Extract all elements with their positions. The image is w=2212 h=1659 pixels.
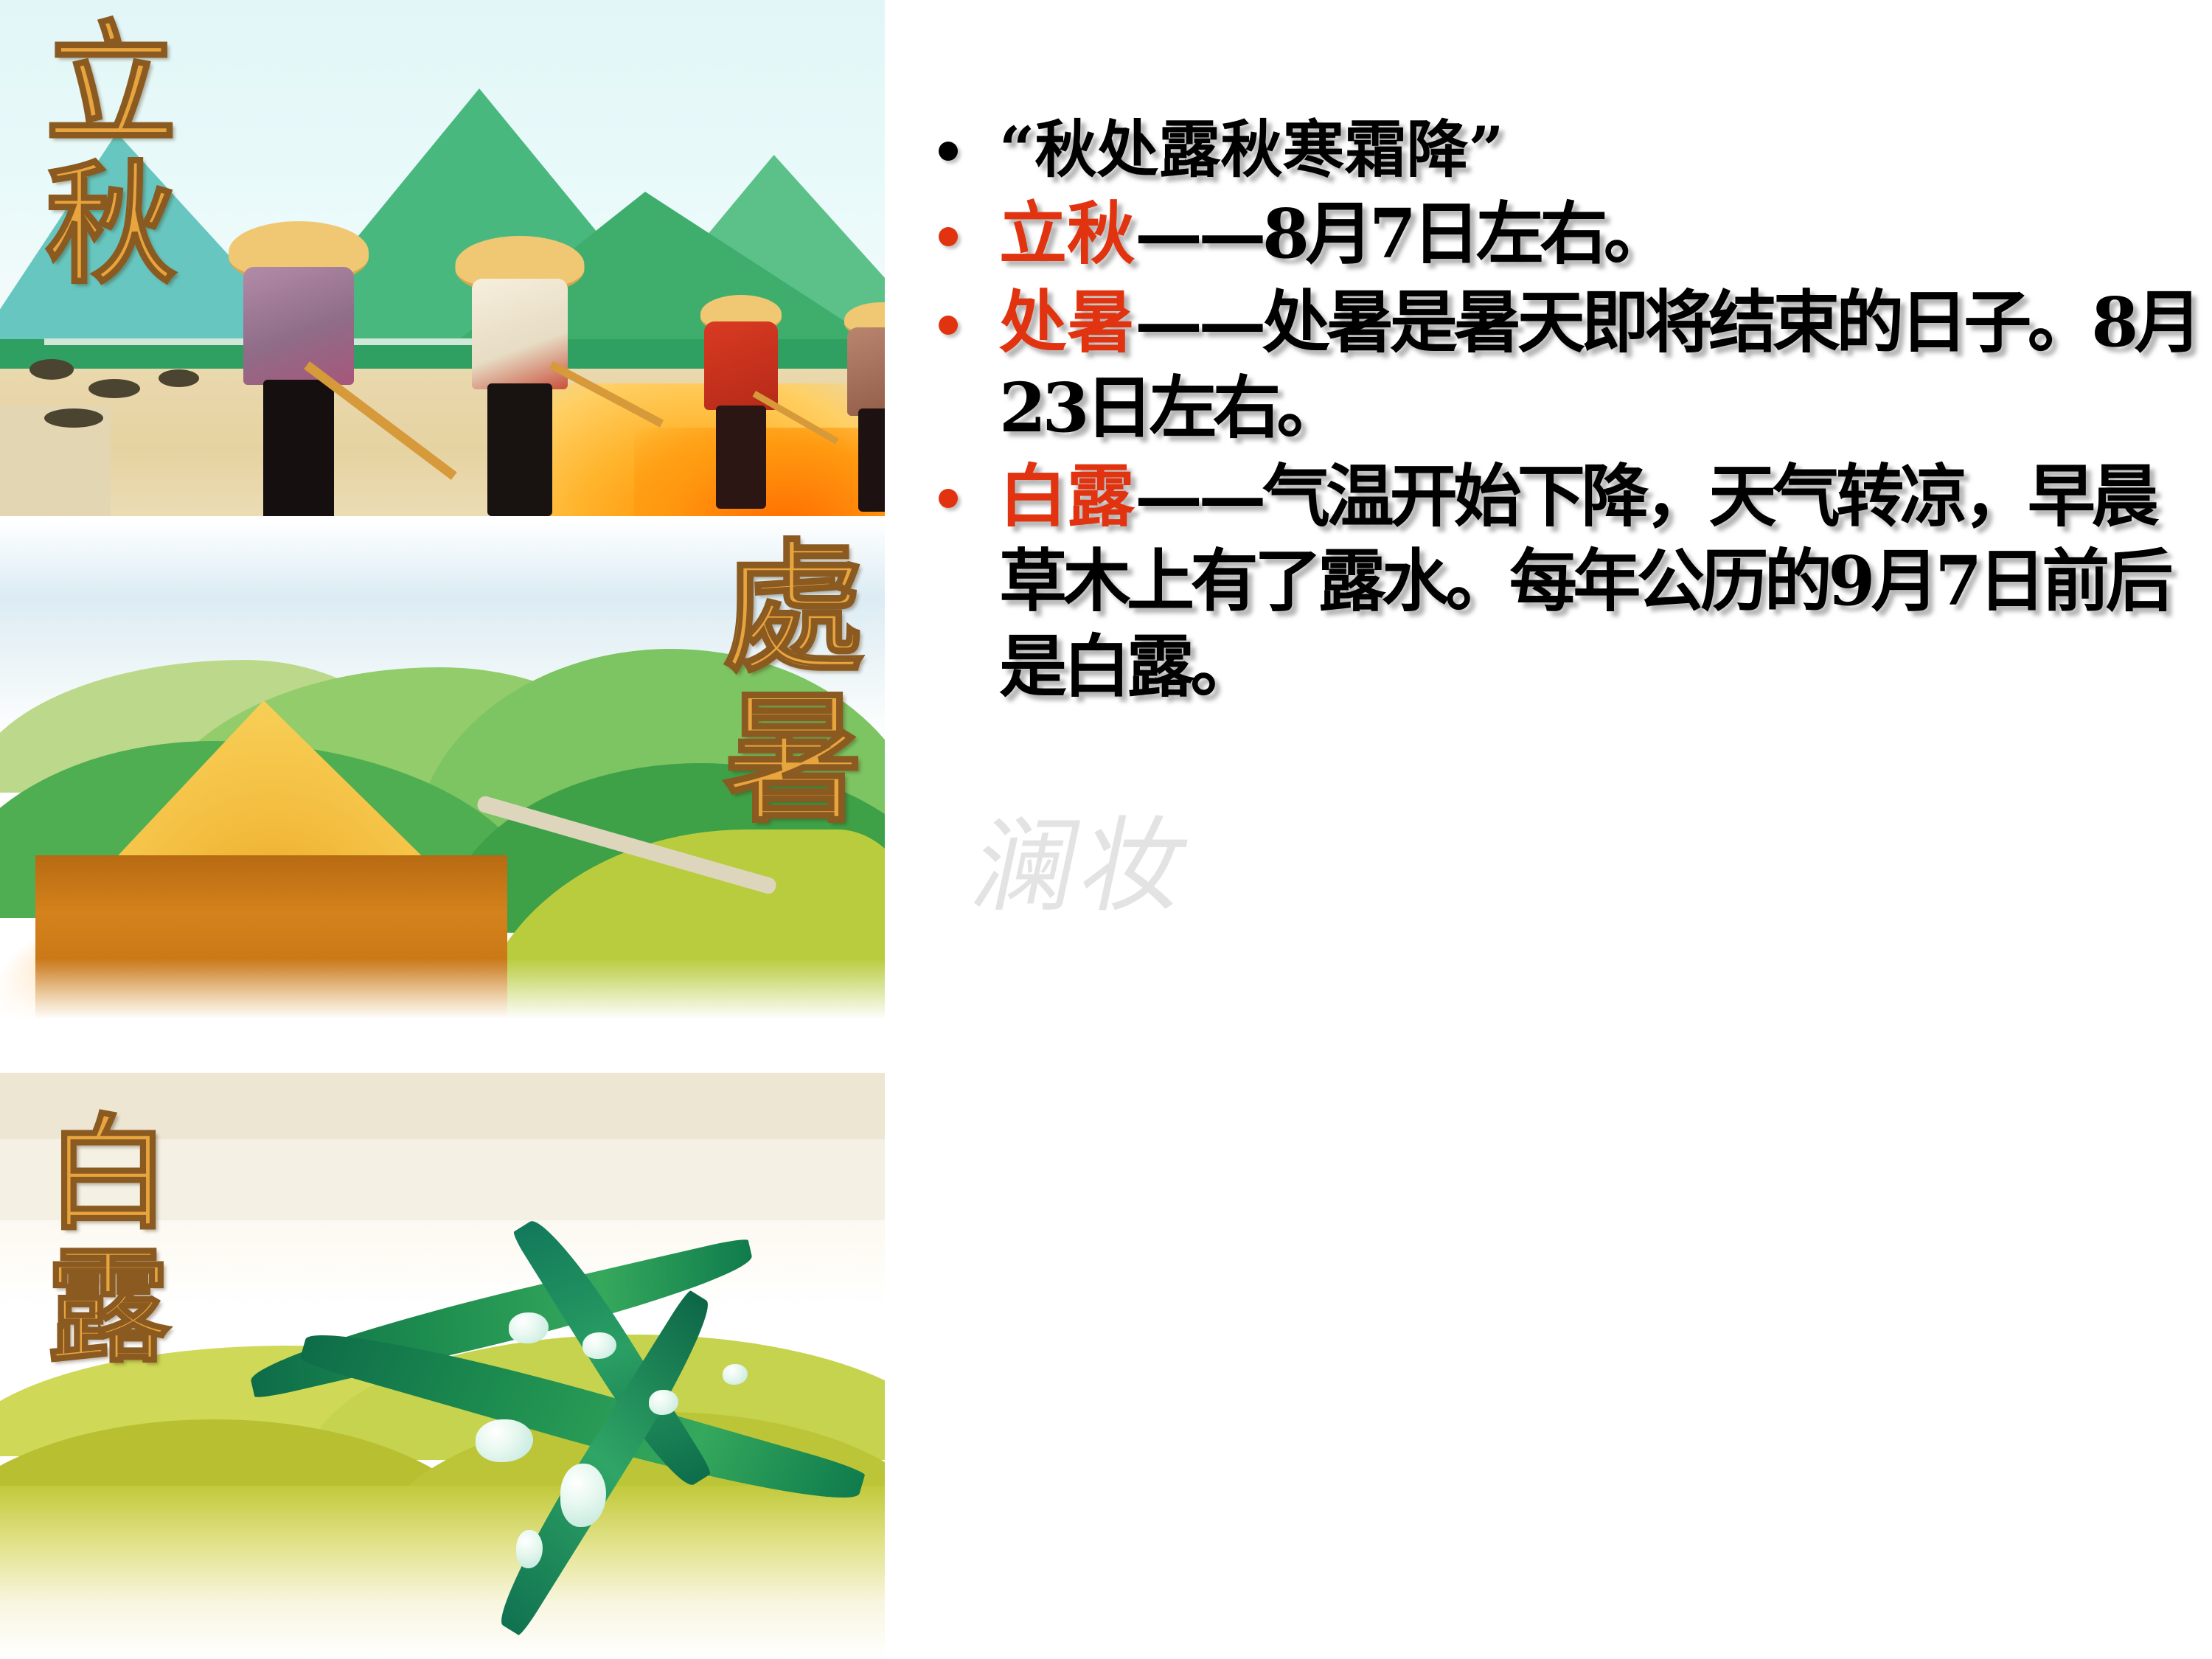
term-chushu: 处暑 [999,282,1135,362]
calligraphy-bailu: 白露 [33,1108,163,1374]
watermark: 澜妆 [961,783,1208,932]
picture-liqiu: 立秋 [0,0,885,516]
list-item: 白露——气温开始下降，天气转凉，早晨草木上有了露水。每年公历的9月7日前后是白露… [925,454,2208,711]
foreground-fade [0,959,885,1069]
body-text-block: “秋处露秋寒霜降” 立秋——8月7日左右。 处暑——处暑是暑天即将结束的日子。8… [925,111,2208,713]
picture-chushu: 處暑 [0,520,885,1069]
picture-bailu: 白露 [0,1073,885,1659]
farmer-figure [686,295,796,516]
shrub [159,369,199,387]
shrub [88,379,140,398]
farmer-legs [716,406,766,509]
term-liqiu: 立秋 [999,194,1135,274]
list-item: “秋处露秋寒霜降” [925,111,2208,189]
list-item: 处暑——处暑是暑天即将结束的日子。8月23日左右。 [925,280,2208,451]
calligraphy-chushu: 處暑 [706,533,855,834]
farmer-torso [847,327,885,416]
term-bailu: 白露 [999,456,1135,536]
farmer-torso [472,279,568,389]
picture-column: 立秋 處暑 白露 [0,0,885,1659]
farmer-torso [243,267,354,385]
farmer-figure [833,302,885,516]
farmer-legs [487,383,552,516]
list-item: 立秋——8月7日左右。 [925,192,2208,277]
foreground-field [0,1486,885,1659]
bullet-text-bailu: ——气温开始下降，天气转凉，早晨草木上有了露水。每年公历的9月7日前后是白露。 [999,456,2169,707]
calligraphy-liqiu: 立秋 [31,15,169,295]
bullet-text-liqiu: ——8月7日左右。 [1135,194,1667,274]
shrub [29,359,74,380]
farmer-figure [442,236,597,516]
shrub [44,408,103,428]
farmer-legs [858,408,885,512]
farmer-figure [221,221,376,516]
bullet-text-chushu: ——处暑是暑天即将结束的日子。8月23日左右。 [999,282,2198,448]
bullet-text-quote: “秋处露秋寒霜降” [999,113,1504,186]
bullet-list: “秋处露秋寒霜降” 立秋——8月7日左右。 处暑——处暑是暑天即将结束的日子。8… [925,111,2208,710]
farmer-legs [263,380,334,516]
